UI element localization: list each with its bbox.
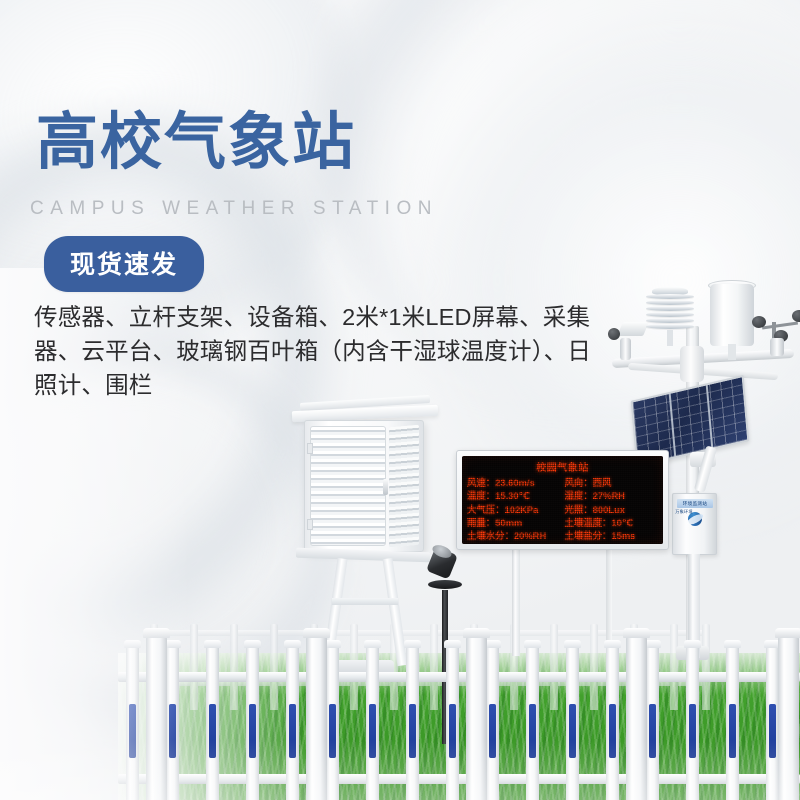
fence-post	[778, 636, 799, 800]
rain-gauge-stem	[728, 344, 736, 360]
screen-hinge-bottom	[307, 519, 313, 530]
crossarm-hub	[680, 346, 704, 382]
led-screen: 校园气象站 风速：23.60m/s 风向：西风 温度：15.30℃ 湿度：27%…	[462, 456, 663, 544]
wind-vane-sensor	[606, 322, 650, 364]
anemometer-sensor	[752, 304, 800, 350]
led-screen-title: 校园气象站	[462, 459, 663, 474]
led-display-left-pole	[512, 550, 520, 656]
screen-latch	[383, 479, 388, 495]
led-reading-wind-direction: 风向：西风	[565, 476, 659, 489]
led-readings-grid: 风速：23.60m/s 风向：西风 温度：15.30℃ 湿度：27%RH 大气压…	[462, 476, 663, 542]
equipment-cabinet: 环境监测站 万象环境	[672, 493, 717, 555]
screen-leg-crossbar	[332, 598, 398, 605]
led-reading-soil-moisture: 土壤水分：20%RH	[467, 529, 561, 542]
product-banner: 环境监测站 万象环境 校园气象站 风速：23.60m/s 风向：西风 温度：15…	[0, 0, 800, 800]
stock-badge: 现货速发	[44, 236, 204, 292]
led-reading-pressure: 大气压：102KPa	[467, 503, 561, 516]
led-display-right-pole	[606, 550, 612, 654]
led-reading-rainfall: 雨量：50mm	[467, 516, 561, 529]
led-reading-wind-speed: 风速：23.60m/s	[467, 476, 561, 489]
screen-door-louvers	[310, 426, 386, 546]
led-display-board: 校园气象站 风速：23.60m/s 风向：西风 温度：15.30℃ 湿度：27%…	[456, 450, 669, 550]
led-reading-humidity: 湿度：27%RH	[565, 489, 659, 502]
sunshine-recorder-base	[428, 580, 462, 589]
rain-gauge-sensor	[710, 284, 754, 346]
led-reading-illuminance: 光照：800Lux	[565, 503, 659, 516]
radiation-shield-sensor	[646, 292, 694, 332]
product-description: 传感器、立杆支架、设备箱、2米*1米LED屏幕、采集器、云平台、玻璃钢百叶箱（内…	[34, 300, 594, 402]
screen-hinge-top	[307, 443, 313, 454]
led-reading-temperature: 温度：15.30℃	[467, 489, 561, 502]
cabinet-label: 环境监测站	[677, 499, 713, 508]
led-reading-soil-temperature: 土壤温度：10℃	[565, 516, 659, 529]
fence-post	[146, 636, 167, 800]
fence-post	[466, 636, 487, 800]
fence-post	[626, 636, 647, 800]
screen-side-louvers	[389, 425, 419, 548]
page-subtitle: CAMPUS WEATHER STATION	[30, 198, 438, 220]
perimeter-fence	[118, 646, 800, 800]
stevenson-screen	[304, 420, 424, 552]
fence-post	[306, 636, 327, 800]
led-reading-soil-salinity: 土壤盐分：15ms	[565, 529, 659, 542]
page-title: 高校气象站	[36, 112, 356, 174]
cabinet-brand-text: 万象环境	[674, 509, 694, 515]
